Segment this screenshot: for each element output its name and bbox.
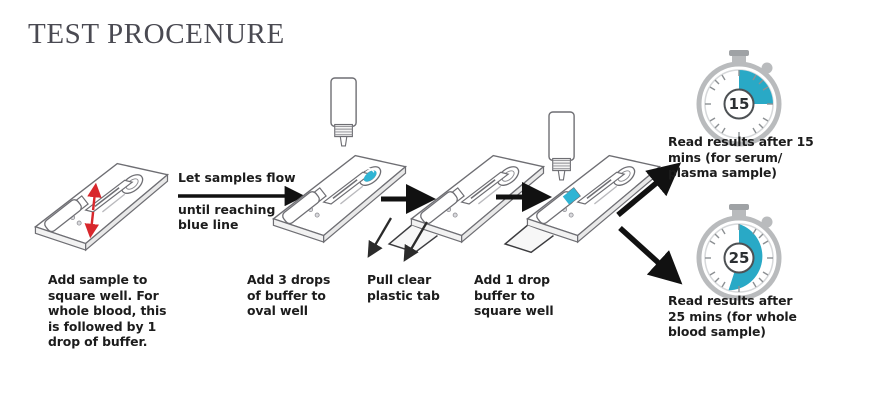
arrow-branch-down (620, 228, 662, 266)
timer-25-value: 25 (729, 249, 750, 267)
step-1-illustration (35, 164, 167, 250)
result-15-caption: Read results after 15 mins (for serum/ p… (668, 134, 858, 181)
arrow-pull-tab-b (410, 222, 427, 251)
timer-15-icon: 15 (699, 50, 779, 144)
illustrations-layer: 15 25 (0, 0, 895, 413)
result-25-caption: Read results after 25 mins (for whole bl… (668, 293, 858, 340)
step-2-dropper-bottle (331, 78, 356, 146)
flow-arrow-label-top: Let samples flow (178, 170, 296, 185)
step-2-caption: Add 3 drops of buffer to oval well (247, 272, 367, 319)
step-2-illustration (273, 156, 405, 242)
diagram-canvas: TEST PROCENURE (0, 0, 895, 413)
arrow-branch-up (618, 180, 660, 215)
timer-25-icon: 25 (699, 204, 779, 298)
page-title: TEST PROCENURE (28, 18, 285, 51)
timer-15-value: 15 (729, 95, 750, 113)
step-4-dropper-bottle (549, 112, 574, 180)
step-4-caption: Add 1 drop buffer to square well (474, 272, 594, 319)
step-4-illustration (505, 156, 659, 253)
step-3-caption: Pull clear plastic tab (367, 272, 477, 303)
arrow-pull-tab-a (374, 218, 391, 247)
flow-arrow-label-bottom: until reaching blue line (178, 202, 275, 233)
step-1-caption: Add sample to square well. For whole blo… (48, 272, 198, 350)
step-3-illustration (389, 156, 543, 253)
